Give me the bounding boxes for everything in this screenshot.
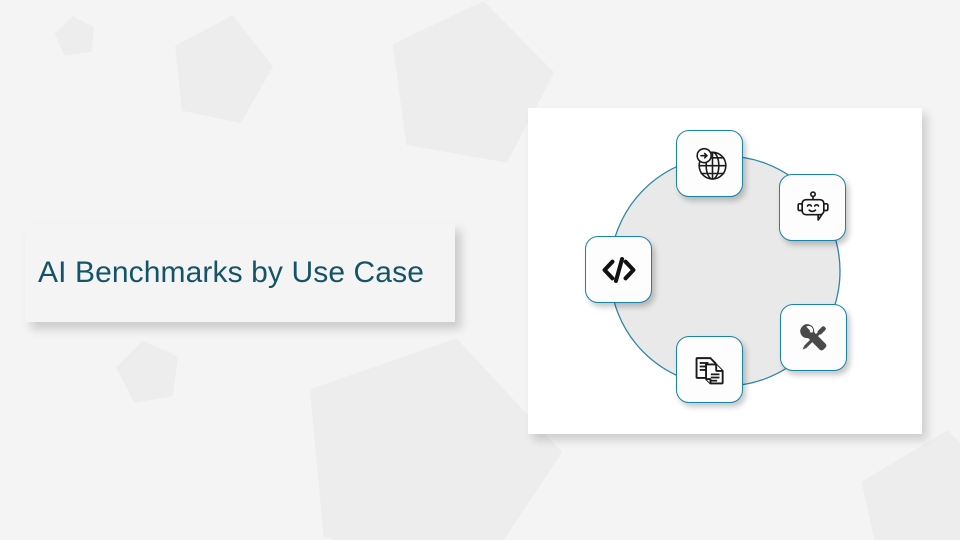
page-title: AI Benchmarks by Use Case [38, 256, 424, 289]
node-tile-chatbot[interactable] [779, 174, 846, 241]
title-card: AI Benchmarks by Use Case [25, 223, 455, 322]
code-brackets-icon [598, 249, 640, 291]
tools-icon [794, 318, 834, 358]
robot-chat-icon [793, 188, 833, 228]
node-tile-translation[interactable] [676, 130, 743, 197]
slide-canvas: AI Benchmarks by Use Case [0, 0, 960, 540]
node-tile-tools[interactable] [780, 304, 847, 371]
radial-diagram [528, 108, 922, 434]
globe-arrow-icon [690, 144, 730, 184]
node-tile-documents[interactable] [676, 336, 743, 403]
pentagon-shape [162, 5, 281, 128]
pentagon-shape [112, 335, 184, 405]
diagram-card [528, 108, 922, 434]
node-tile-code[interactable] [585, 236, 652, 303]
pentagon-shape [53, 13, 98, 56]
documents-icon [691, 351, 729, 389]
pentagon-shape [852, 422, 960, 540]
